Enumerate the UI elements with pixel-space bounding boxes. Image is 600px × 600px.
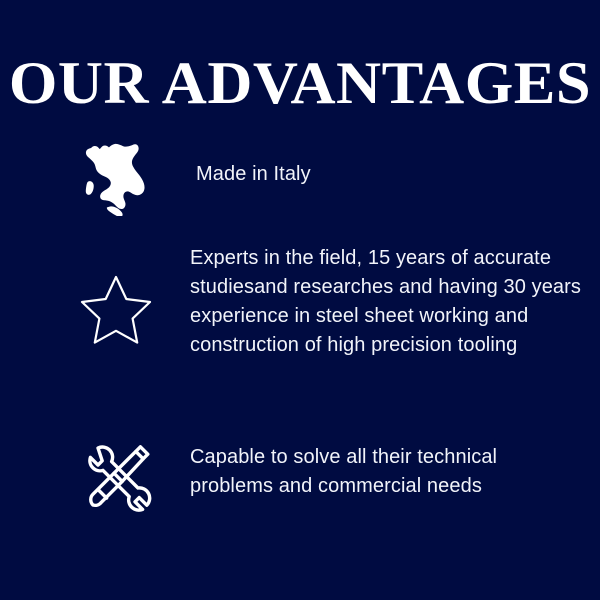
advantage-text: Made in Italy: [196, 160, 578, 189]
star-outline-icon: [78, 274, 154, 346]
advantage-item-made-in-italy: Made in Italy: [78, 138, 578, 216]
wrench-screwdriver-icon: [78, 436, 156, 514]
advantage-item-capable: Capable to solve all their technical pro…: [78, 434, 578, 514]
italy-map-icon: [78, 138, 152, 216]
advantage-item-experts: Experts in the field, 15 years of accura…: [78, 244, 588, 360]
advantages-poster: OUR ADVANTAGES Made in Italy Exper: [0, 0, 600, 600]
page-title: OUR ADVANTAGES: [0, 52, 600, 114]
advantage-text: Capable to solve all their technical pro…: [190, 443, 560, 501]
advantage-text: Experts in the field, 15 years of accura…: [190, 244, 582, 360]
